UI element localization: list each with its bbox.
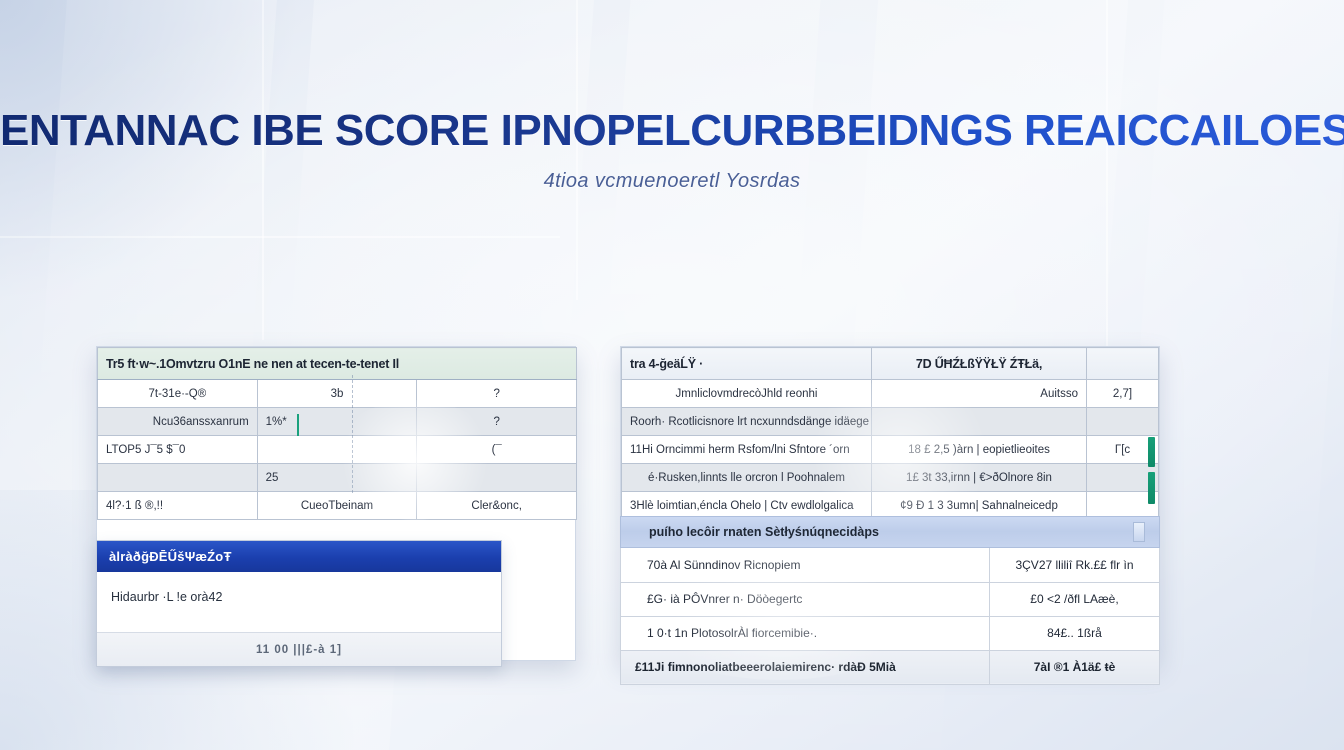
table-row[interactable]: é·Rusken,linnts lle orcron l Poohnalem 1… [622,464,1159,492]
left-row-4-c2: Cler&onc, [417,492,577,520]
list-item[interactable]: 70à Al Sünndinov Ricnopiem 3ÇV27 lliliî … [621,548,1160,582]
bg-edge-4 [0,236,560,238]
left-row-0-c1: 3b [257,380,417,408]
right-row-2-value: 18 £ 2,5 )àrn | eopietlieoites [872,436,1087,464]
list-item[interactable]: £G· ià PÔVnrer n· Döòegertc £0 <2 /ðfl L… [621,582,1160,616]
left-row-1-c2: ? [417,408,577,436]
right-row-3-value: 1£ 3t 33,irnn | €>ðOlnore 8in [872,464,1087,492]
right-row-3-label: é·Rusken,linnts lle orcron l Poohnalem [622,464,872,492]
status-accent-bar-2 [1148,472,1155,504]
left-subcard: àlràðğĐĒŰšΨæŹοŦ Hidaurbr ·L !e orà42 11 … [96,540,502,667]
left-table-banner-row: Tr5 ft·w~.1Omvtzru O1nE ne nen at tecen-… [98,348,577,380]
right-lower-row-3-label: £11Ji fimnonoliatbeeerolaiemirenc· rdàÐ … [621,650,990,684]
table-row[interactable]: Roorh· Rcotlicisnore lrt ncxunndsdänge i… [622,408,1159,436]
right-table-banner-row: tra 4-ğeäĹŸ · 7D ŰĦŹŁßŸŸŁŸ ŹŦŁä, [622,348,1159,380]
right-lower-row-1-value: £0 <2 /ðfl LAæè, [990,582,1160,616]
page-title: ENTANNAC IBE SCORE IPNOPELCURBBEIDNGS RE… [0,108,1344,154]
right-lower-banner[interactable]: puího lecôir rnaten Sètłyśnúqnecidàps [620,516,1160,548]
left-row-3-c2 [417,464,577,492]
left-row-2-c1 [257,436,417,464]
right-row-2-label: 11Hi Orncimmi herm Rsfom/lni Sfntore ´or… [622,436,872,464]
left-row-3-label [98,464,258,492]
right-row-0-value: Auitsso [872,380,1087,408]
total-row[interactable]: £11Ji fimnonoliatbeeerolaiemirenc· rdàÐ … [621,650,1160,684]
right-table: tra 4-ğeäĹŸ · 7D ŰĦŹŁßŸŸŁŸ ŹŦŁä, Jmnlicl… [621,347,1159,520]
left-subcard-body: Hidaurbr ·L !e orà42 [97,572,501,632]
left-row-0-c2: ? [417,380,577,408]
list-item[interactable]: 1 0·t 1n PlotosolrÀl fiorcemibie·. 84£..… [621,616,1160,650]
left-subcard-footer: 11 00 |||£-à 1] [97,632,501,666]
left-row-4-c1: CueoTbeinam [257,492,417,520]
right-lower-row-3-value: 7àI ®1 À1ä£ ŧè [990,650,1160,684]
left-row-2-label: LTOP5 J¯5 $¯0 [98,436,258,464]
left-row-4-label: 4l?·1 ß ®,!! [98,492,258,520]
table-row[interactable]: JmnliclovmdrecòJhld reonhi Auitsso 2,7] [622,380,1159,408]
right-lower-row-0-value: 3ÇV27 lliliî Rk.££ flr ìn [990,548,1160,582]
page-subtitle: 4tioa vcmuenoeretl Yosrdas [0,170,1344,193]
left-table-banner: Tr5 ft·w~.1Omvtzru O1nE ne nen at tecen-… [98,348,577,380]
left-row-1-c1: 1%* [257,408,417,436]
right-row-0-extra: 2,7] [1087,380,1159,408]
right-lower-row-2-value: 84£.. 1ßrå [990,616,1160,650]
left-row-0-label: 7t-31e·-Q® [98,380,258,408]
status-accent-bar-1 [1148,437,1155,467]
right-row-1-extra [1087,408,1159,436]
right-table-banner-center: 7D ŰĦŹŁßŸŸŁŸ ŹŦŁä, [872,348,1087,380]
left-subcard-header[interactable]: àlràðğĐĒŰšΨæŹοŦ [97,541,501,572]
table-row[interactable]: Ncu36anssxanrum 1%* ? [98,408,577,436]
right-lower-row-1-label: £G· ià PÔVnrer n· Döòegertc [621,582,990,616]
right-row-0-label: JmnliclovmdrecòJhld reonhi [622,380,872,408]
slide-header: ENTANNAC IBE SCORE IPNOPELCURBBEIDNGS RE… [0,108,1344,193]
table-row[interactable]: 11Hi Orncimmi herm Rsfom/lni Sfntore ´or… [622,436,1159,464]
right-lower-row-0-label: 70à Al Sünndinov Ricnopiem [621,548,990,582]
table-row[interactable]: 25 [98,464,577,492]
right-row-1-value [872,408,1087,436]
right-row-1-label: Roorh· Rcotlicisnore lrt ncxunndsdänge i… [622,408,872,436]
scroll-knob-icon[interactable] [1133,522,1145,542]
table-row[interactable]: 7t-31e·-Q® 3b ? [98,380,577,408]
right-table-banner-left: tra 4-ğeäĹŸ · [622,348,872,380]
left-row-3-c1: 25 [257,464,417,492]
left-row-1-label: Ncu36anssxanrum [98,408,258,436]
left-table-teal-marker [297,414,299,436]
table-row[interactable]: 4l?·1 ß ®,!! CueoTbeinam Cler&onc, [98,492,577,520]
left-row-2-c2: (¯ [417,436,577,464]
left-table: Tr5 ft·w~.1Omvtzru O1nE ne nen at tecen-… [97,347,577,520]
right-table-banner-knob[interactable] [1087,348,1159,380]
right-lower-table: 70à Al Sünndinov Ricnopiem 3ÇV27 lliliî … [620,548,1160,685]
table-row[interactable]: LTOP5 J¯5 $¯0 (¯ [98,436,577,464]
right-lower-row-2-label: 1 0·t 1n PlotosolrÀl fiorcemibie·. [621,616,990,650]
right-lower-banner-label: puího lecôir rnaten Sètłyśnúqnecidàps [649,525,879,539]
right-lower-block: puího lecôir rnaten Sètłyśnúqnecidàps 70… [620,516,1160,685]
